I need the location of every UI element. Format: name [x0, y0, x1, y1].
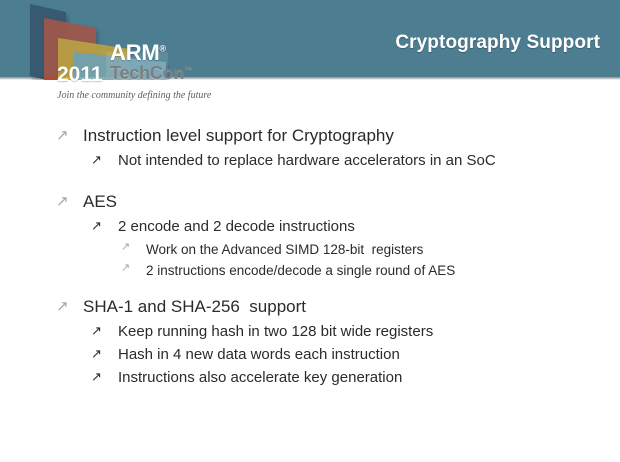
bullet-level1: ↗ SHA-1 and SHA-256 support — [0, 295, 620, 319]
bullet-level3: ↗ 2 instructions encode/decode a single … — [0, 260, 620, 281]
arm-techcon-logo: 2011 ARM® TechCon™ Join the community de… — [0, 0, 230, 112]
bullet-text: Work on the Advanced SIMD 128-bit regist… — [146, 239, 423, 260]
slide-body: ↗ Instruction level support for Cryptogr… — [0, 124, 620, 390]
bullet-text: Not intended to replace hardware acceler… — [118, 150, 496, 172]
bullet-text: Instruction level support for Cryptograp… — [83, 124, 394, 148]
bullet-text: Instructions also accelerate key generat… — [118, 367, 402, 389]
northeast-arrow-icon: ↗ — [91, 216, 118, 232]
slide-title: Cryptography Support — [395, 32, 600, 54]
bullet-level2: ↗ 2 encode and 2 decode instructions — [0, 216, 620, 238]
presentation-slide: Cryptography Support 20 — [0, 0, 620, 462]
northeast-arrow-icon: ↗ — [56, 124, 83, 143]
bullet-text: Keep running hash in two 128 bit wide re… — [118, 321, 433, 343]
bullet-level1: ↗ Instruction level support for Cryptogr… — [0, 124, 620, 148]
bullet-level3: ↗ Work on the Advanced SIMD 128-bit regi… — [0, 239, 620, 260]
northeast-arrow-icon: ↗ — [121, 239, 146, 253]
northeast-arrow-icon: ↗ — [91, 367, 118, 383]
logo-text-panel — [106, 52, 168, 77]
bullet-group-spacer — [0, 281, 620, 295]
bullet-text: 2 encode and 2 decode instructions — [118, 216, 355, 238]
bullet-text: 2 instructions encode/decode a single ro… — [146, 260, 455, 281]
logo-tagline: Join the community defining the future — [57, 90, 211, 101]
bullet-text: SHA-1 and SHA-256 support — [83, 295, 306, 319]
bullet-level2: ↗ Keep running hash in two 128 bit wide … — [0, 321, 620, 343]
bullet-level2: ↗ Not intended to replace hardware accel… — [0, 150, 620, 172]
northeast-arrow-icon: ↗ — [121, 260, 146, 274]
northeast-arrow-icon: ↗ — [91, 150, 118, 166]
northeast-arrow-icon: ↗ — [91, 321, 118, 337]
bullet-text: Hash in 4 new data words each instructio… — [118, 344, 400, 366]
bullet-level1: ↗ AES — [0, 190, 620, 214]
bullet-group-spacer — [0, 173, 620, 190]
northeast-arrow-icon: ↗ — [56, 295, 83, 314]
bullet-text: AES — [83, 190, 117, 214]
bullet-level2: ↗ Instructions also accelerate key gener… — [0, 367, 620, 389]
bullet-level2: ↗ Hash in 4 new data words each instruct… — [0, 344, 620, 366]
northeast-arrow-icon: ↗ — [91, 344, 118, 360]
northeast-arrow-icon: ↗ — [56, 190, 83, 209]
